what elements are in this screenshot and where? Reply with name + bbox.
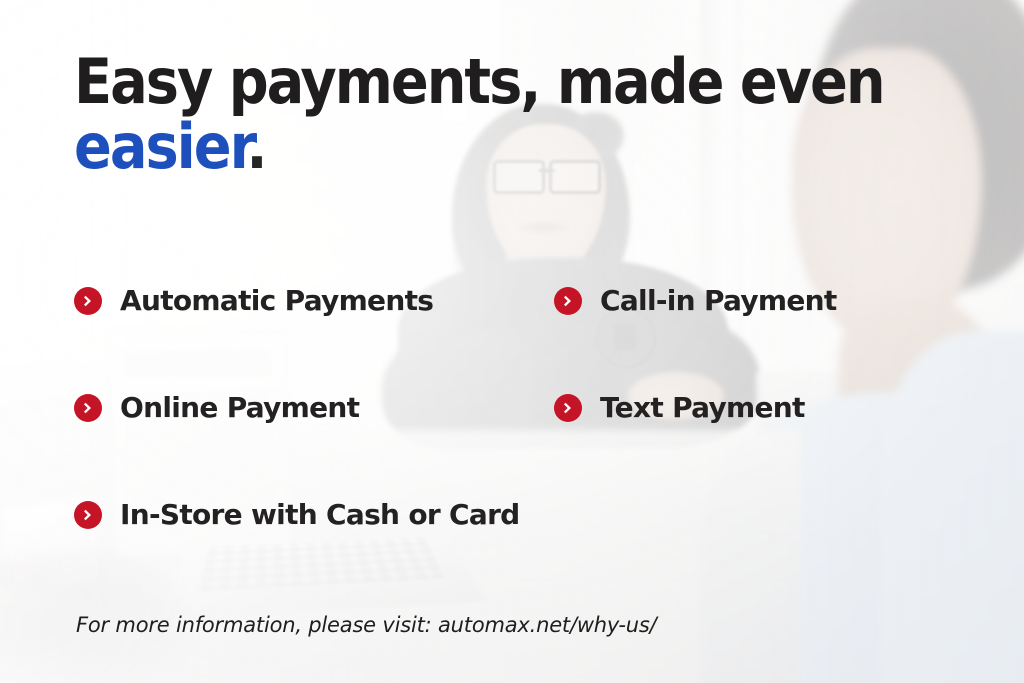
- benefit-label: Call-in Payment: [600, 284, 837, 317]
- benefit-item-online-payment: Online Payment: [74, 391, 554, 424]
- banner-content: Easy payments, made even easier. Automat…: [0, 0, 1024, 683]
- chevron-right-circle-icon: [554, 287, 582, 315]
- chevron-right-circle-icon: [74, 287, 102, 315]
- promo-banner: Easy payments, made even easier. Automat…: [0, 0, 1024, 683]
- chevron-right-circle-icon: [74, 394, 102, 422]
- benefit-item-text-payment: Text Payment: [554, 391, 954, 424]
- benefit-label: Online Payment: [120, 391, 359, 424]
- benefit-label: Automatic Payments: [120, 284, 433, 317]
- headline: Easy payments, made even easier.: [74, 52, 884, 178]
- benefit-list: Automatic Payments Call-in Payment Onlin…: [74, 284, 954, 605]
- benefit-item-call-in-payment: Call-in Payment: [554, 284, 954, 317]
- headline-line-2: easier.: [74, 117, 884, 178]
- headline-line-1: Easy payments, made even: [74, 45, 884, 118]
- headline-accent-word: easier: [74, 110, 246, 183]
- benefit-item-in-store-cash-or-card: In-Store with Cash or Card: [74, 498, 954, 531]
- chevron-right-circle-icon: [74, 501, 102, 529]
- benefit-label: In-Store with Cash or Card: [120, 498, 520, 531]
- chevron-right-circle-icon: [554, 394, 582, 422]
- headline-period: .: [246, 110, 265, 183]
- footnote-text: For more information, please visit: auto…: [76, 613, 657, 637]
- benefit-label: Text Payment: [600, 391, 805, 424]
- benefit-item-automatic-payments: Automatic Payments: [74, 284, 554, 317]
